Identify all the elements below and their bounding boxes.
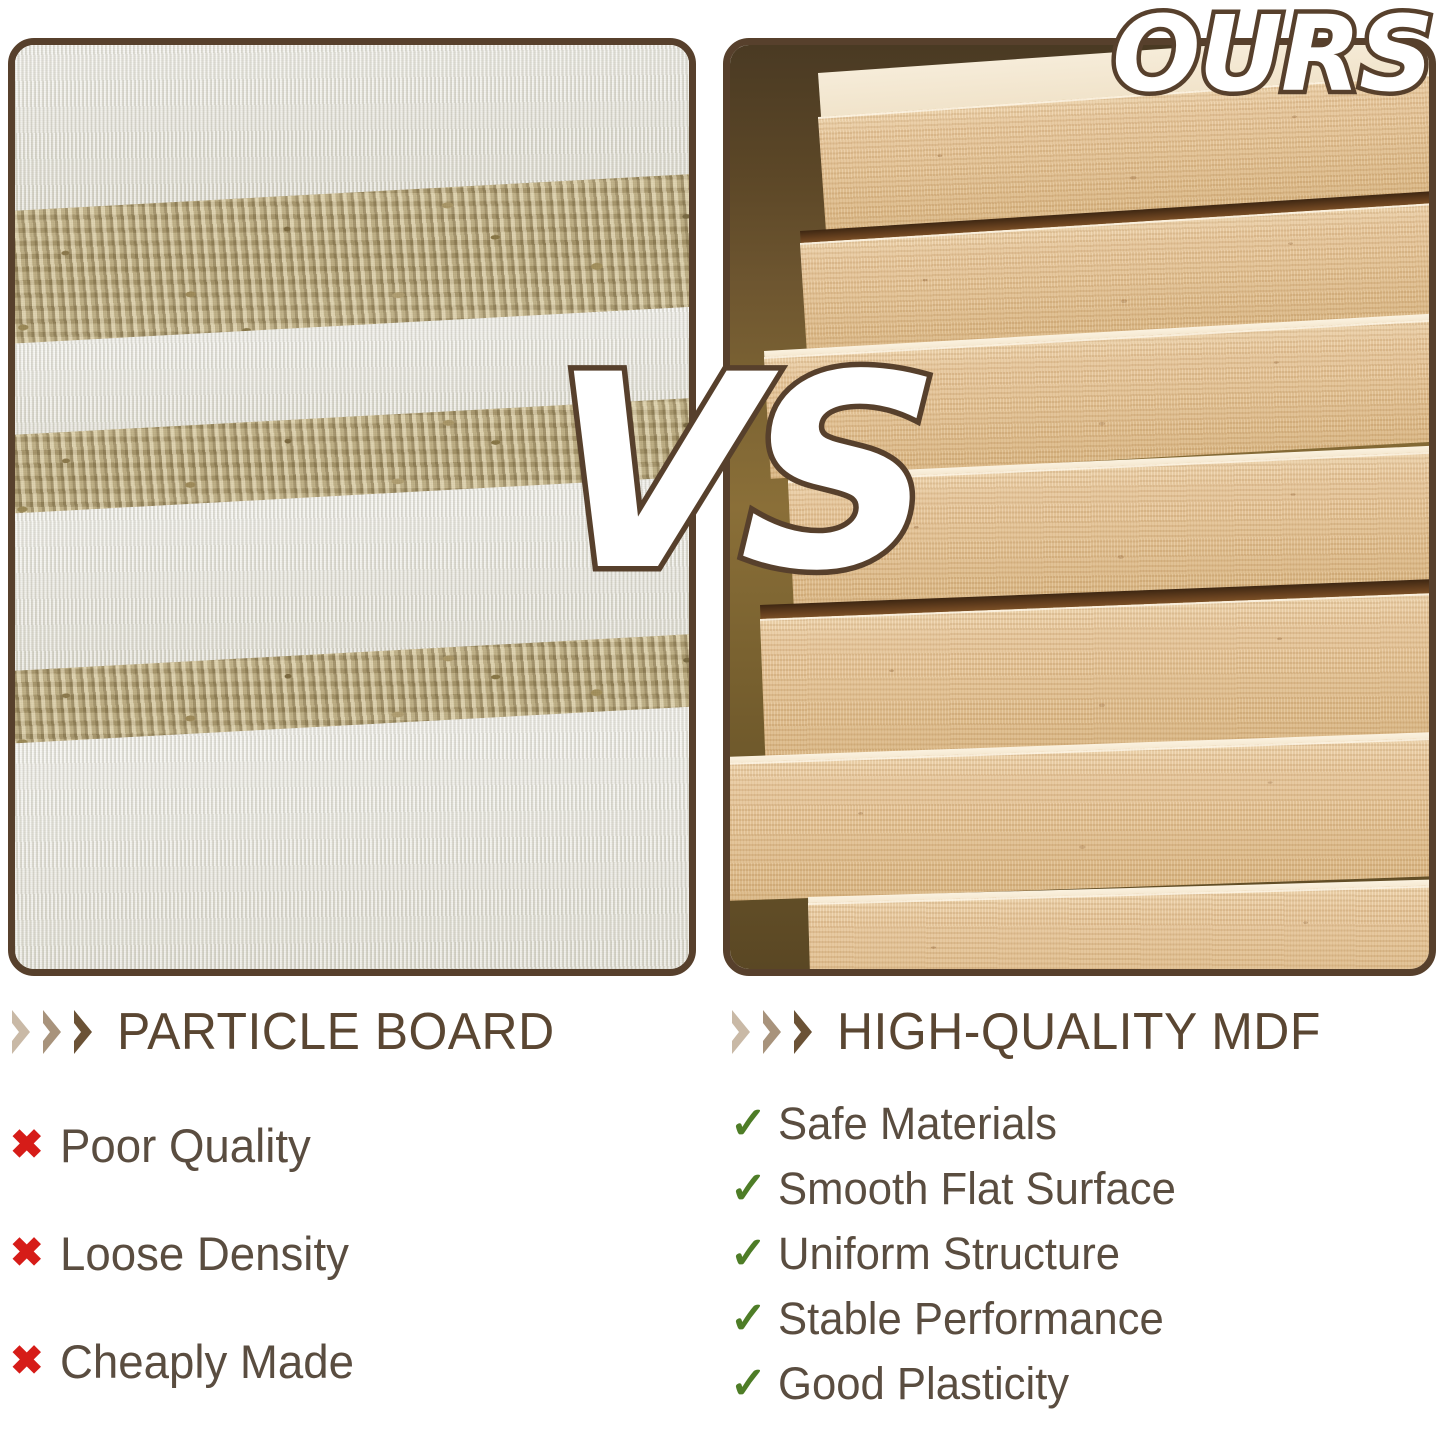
- list-item: ✓ Uniform Structure: [730, 1221, 1444, 1286]
- list-item-label: Smooth Flat Surface: [778, 1163, 1176, 1215]
- check-icon: ✓: [730, 1358, 778, 1409]
- list-item: ✖ Poor Quality: [10, 1091, 722, 1199]
- chevron-right-icon-mid: [41, 1009, 62, 1055]
- chevron-right-icon-light: [10, 1009, 31, 1055]
- mdf-column: HIGH-QUALITY MDF ✓ Safe Materials ✓ Smoo…: [722, 995, 1444, 1430]
- cross-icon: ✖: [10, 1122, 60, 1168]
- mdf-board-6: [723, 736, 1436, 900]
- vs-badge: VS: [541, 340, 931, 608]
- mdf-heading-row: HIGH-QUALITY MDF: [730, 995, 1444, 1069]
- mdf-feature-list: ✓ Safe Materials ✓ Smooth Flat Surface ✓…: [730, 1091, 1444, 1416]
- cross-icon: ✖: [10, 1230, 60, 1276]
- chevron-right-icon-mid: [761, 1009, 782, 1055]
- list-item-label: Stable Performance: [778, 1293, 1164, 1345]
- cross-icon: ✖: [10, 1338, 60, 1384]
- check-icon: ✓: [730, 1228, 778, 1279]
- list-item-label: Uniform Structure: [778, 1228, 1120, 1280]
- list-item: ✖ Loose Density: [10, 1199, 722, 1307]
- list-item-label: Poor Quality: [60, 1118, 311, 1173]
- mdf-title: HIGH-QUALITY MDF: [837, 1002, 1321, 1062]
- list-item-label: Safe Materials: [778, 1098, 1057, 1150]
- particle-board-column: PARTICLE BOARD ✖ Poor Quality ✖ Loose De…: [0, 995, 722, 1430]
- particle-board-chevrons: [10, 1009, 93, 1055]
- ours-badge: OURS: [1112, 0, 1432, 109]
- chevron-right-icon-dark: [72, 1009, 93, 1055]
- check-icon: ✓: [730, 1293, 778, 1344]
- list-item-label: Loose Density: [60, 1226, 349, 1281]
- particle-board-heading-row: PARTICLE BOARD: [10, 995, 722, 1069]
- list-item: ✓ Smooth Flat Surface: [730, 1156, 1444, 1221]
- comparison-infographic: OURS VS PARTICLE BOARD: [0, 0, 1444, 1430]
- list-item: ✓ Good Plasticity: [730, 1351, 1444, 1416]
- chevron-right-icon-light: [730, 1009, 751, 1055]
- list-item: ✓ Stable Performance: [730, 1286, 1444, 1351]
- list-item-label: Cheaply Made: [60, 1334, 354, 1389]
- list-item: ✖ Cheaply Made: [10, 1307, 722, 1415]
- list-item-label: Good Plasticity: [778, 1358, 1069, 1410]
- particle-board-feature-list: ✖ Poor Quality ✖ Loose Density ✖ Cheaply…: [10, 1091, 722, 1415]
- list-item: ✓ Safe Materials: [730, 1091, 1444, 1156]
- comparison-columns: PARTICLE BOARD ✖ Poor Quality ✖ Loose De…: [0, 995, 1444, 1430]
- check-icon: ✓: [730, 1163, 778, 1214]
- chevron-right-icon-dark: [792, 1009, 813, 1055]
- particle-board-title: PARTICLE BOARD: [117, 1002, 555, 1062]
- mdf-chevrons: [730, 1009, 813, 1055]
- check-icon: ✓: [730, 1098, 778, 1149]
